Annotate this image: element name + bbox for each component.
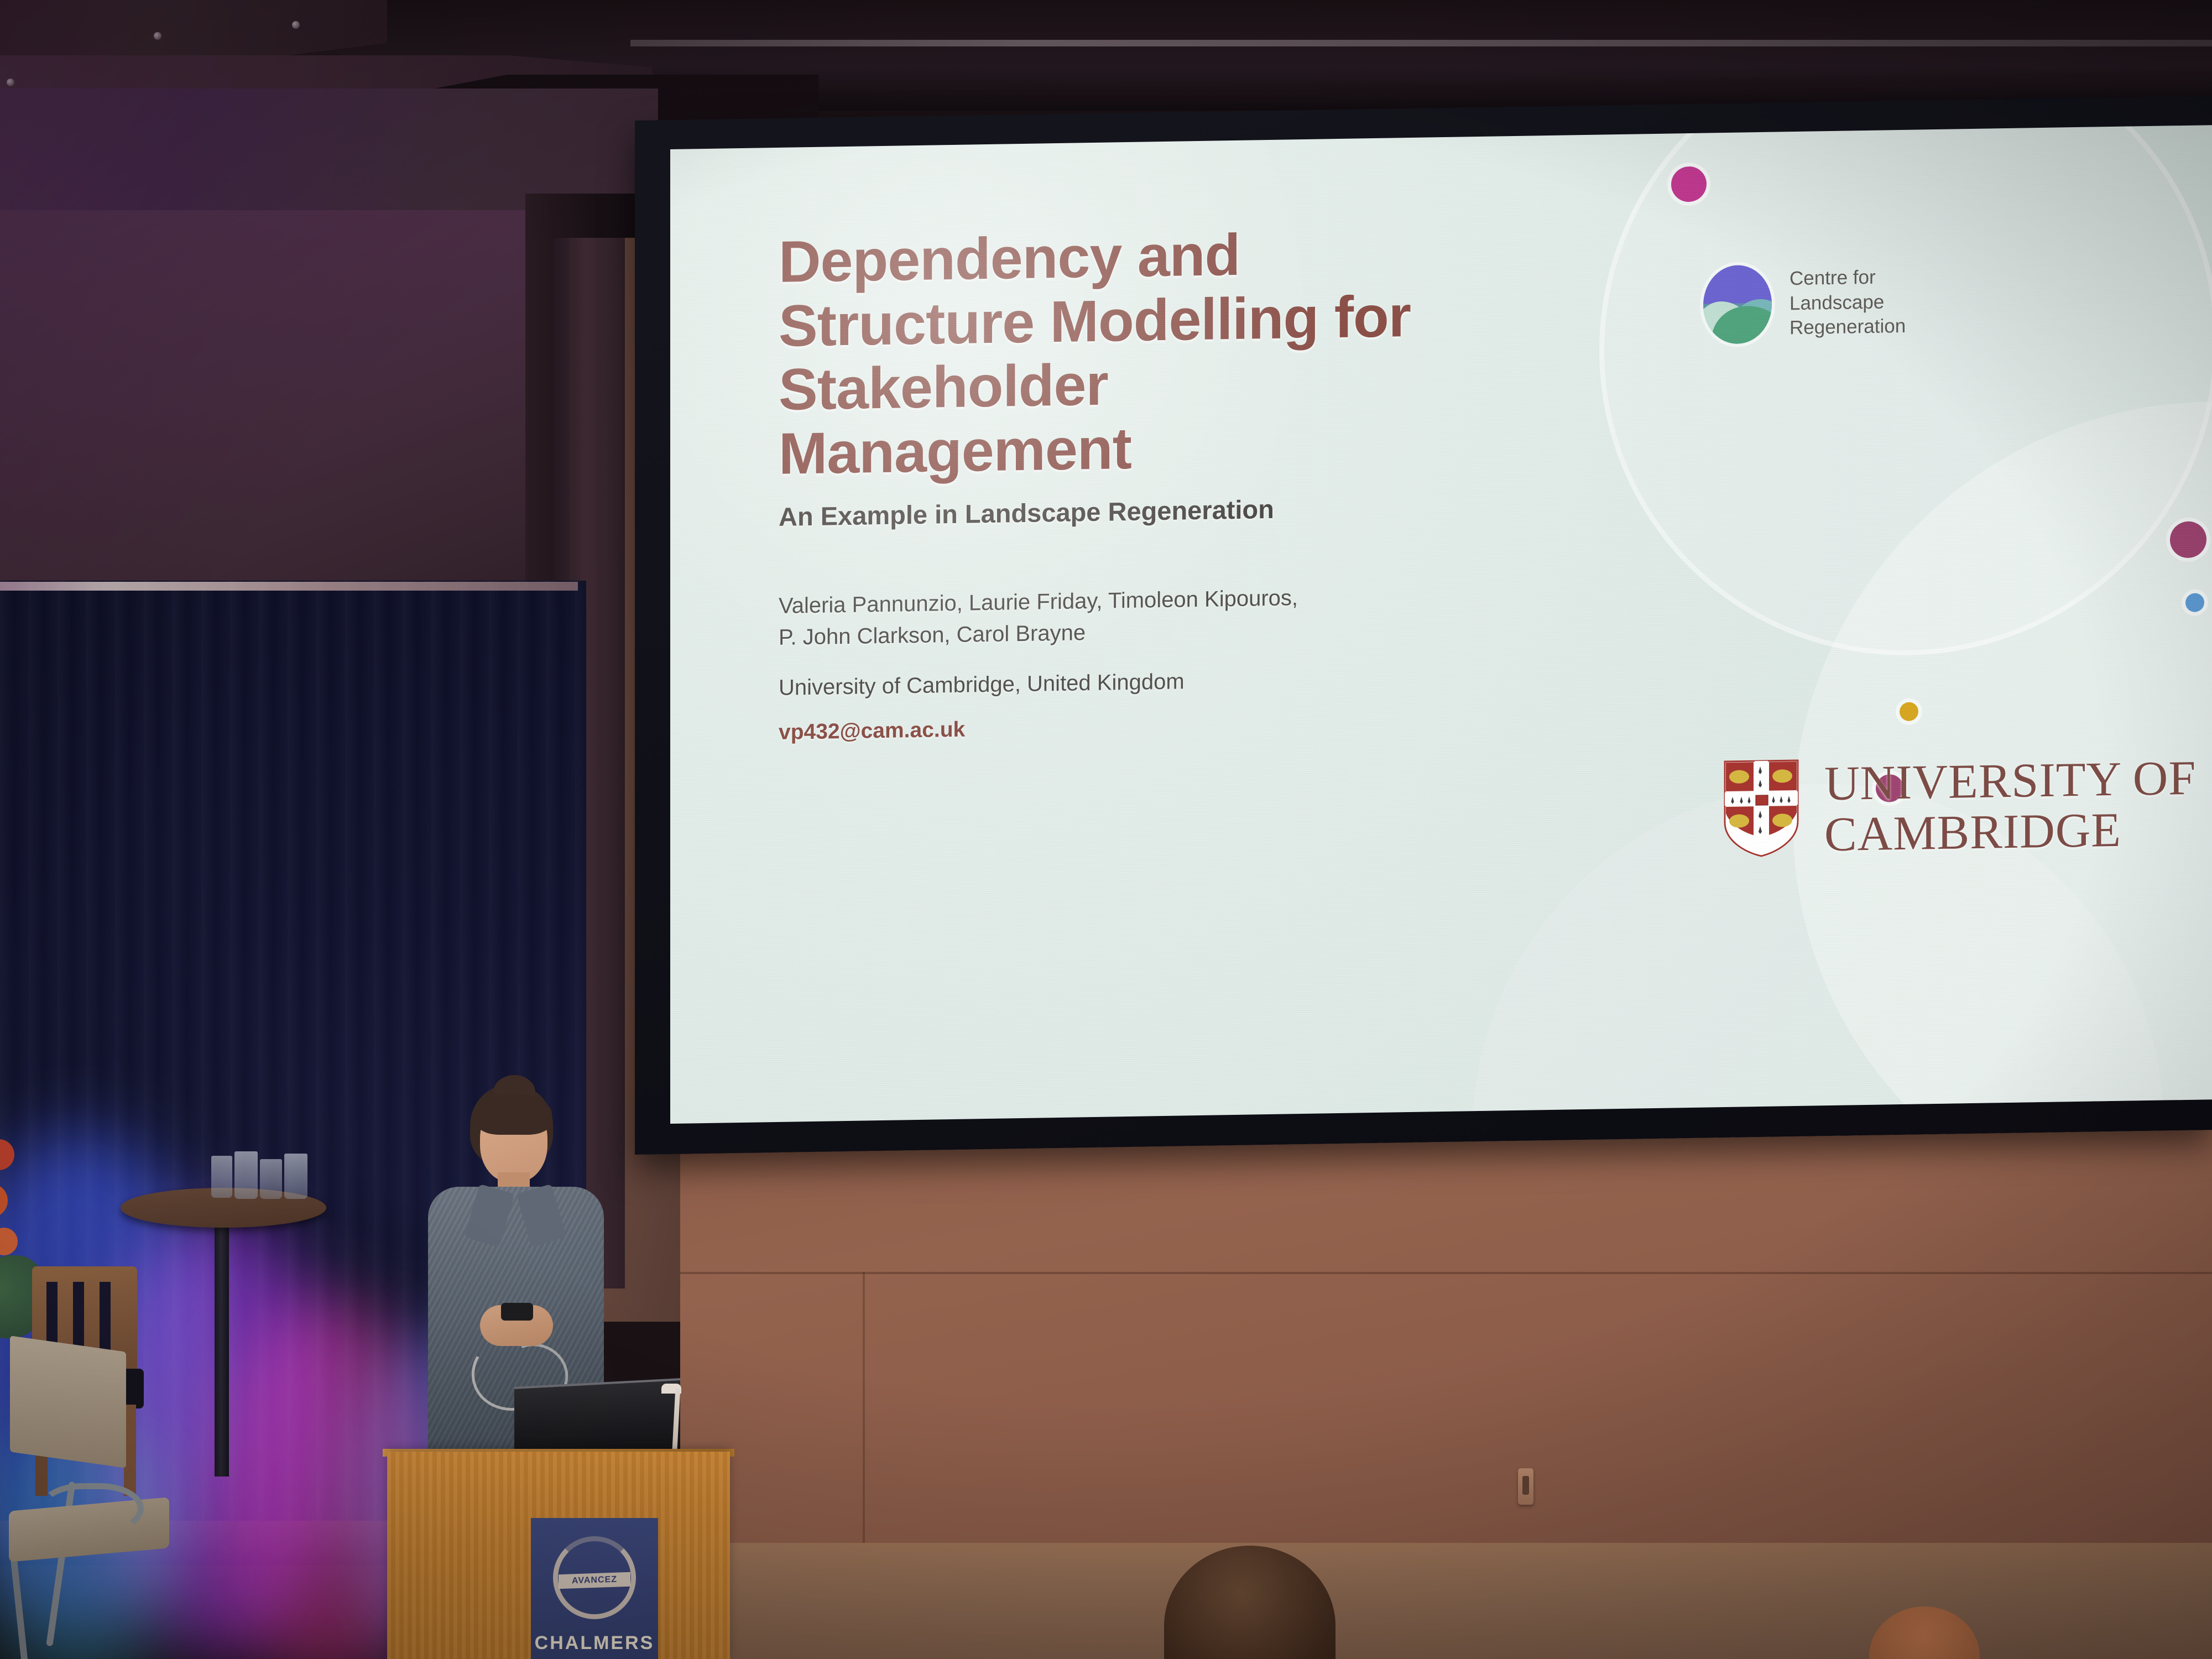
- flower: [0, 1139, 14, 1170]
- slide-subtitle: An Example in Landscape Regeneration: [779, 488, 1608, 532]
- landscape-mark-icon: [1703, 265, 1772, 345]
- cambridge-wordmark-line1: UNIVERSITY OF: [1824, 753, 2196, 810]
- ceiling-screw: [7, 79, 14, 86]
- ceiling-screw: [154, 32, 161, 40]
- ceiling-light-strip: [630, 40, 2212, 46]
- slide-text-block: Dependency and Structure Modelling for S…: [779, 217, 1608, 744]
- centre-logo-line2: Landscape: [1790, 289, 1906, 316]
- centre-for-landscape-regeneration-logo: Centre for Landscape Regeneration: [1703, 263, 1906, 345]
- high-table-leg: [215, 1217, 229, 1477]
- chalmers-wordmark: CHALMERS: [531, 1632, 658, 1654]
- wall-socket-icon: [1518, 1468, 1533, 1505]
- lecture-room-photo: Centre for Landscape Regeneration: [0, 0, 2212, 1659]
- cambridge-wordmark-line2: CAMBRIDGE: [1824, 804, 2196, 860]
- centre-logo-line3: Regeneration: [1790, 314, 1906, 341]
- water-glass: [211, 1156, 232, 1198]
- cambridge-crest-icon: [1724, 759, 1799, 858]
- chair-armrest: [39, 1483, 144, 1534]
- chalmers-motto-text: AVANCEZ: [559, 1572, 630, 1589]
- slide-title-line4: Management: [779, 409, 1608, 486]
- water-bottle: [234, 1151, 258, 1199]
- wall-left-lower: [0, 210, 542, 597]
- water-bottle: [284, 1154, 307, 1199]
- presentation-clicker: [501, 1303, 533, 1321]
- chair-back: [10, 1335, 126, 1468]
- presentation-slide: Centre for Landscape Regeneration: [670, 125, 2212, 1124]
- curtain-rail: [0, 582, 578, 591]
- slide-affiliation: University of Cambridge, United Kingdom: [779, 662, 1608, 701]
- flower: [0, 1183, 8, 1218]
- water-glass: [260, 1159, 282, 1199]
- centre-logo-text: Centre for Landscape Regeneration: [1790, 265, 1906, 341]
- ceiling-screw: [292, 21, 300, 29]
- cambridge-wordmark: UNIVERSITY OF CAMBRIDGE: [1824, 753, 2196, 860]
- chalmers-motto-banner: AVANCEZ: [559, 1572, 630, 1589]
- floor: [653, 1543, 2212, 1659]
- centre-logo-line1: Centre for: [1790, 265, 1906, 291]
- wall-seam: [680, 1272, 2212, 1274]
- flower: [0, 1228, 18, 1255]
- presenter-hair-front: [476, 1094, 552, 1135]
- university-of-cambridge-logo: UNIVERSITY OF CAMBRIDGE: [1724, 753, 2196, 862]
- chair-frame: [9, 1548, 28, 1659]
- slide-title: Dependency and Structure Modelling for S…: [779, 217, 1608, 486]
- folding-chair: [0, 1344, 166, 1653]
- slide-authors: Valeria Pannunzio, Laurie Friday, Timole…: [779, 577, 1608, 653]
- slide-email: vp432@cam.ac.uk: [779, 707, 1608, 745]
